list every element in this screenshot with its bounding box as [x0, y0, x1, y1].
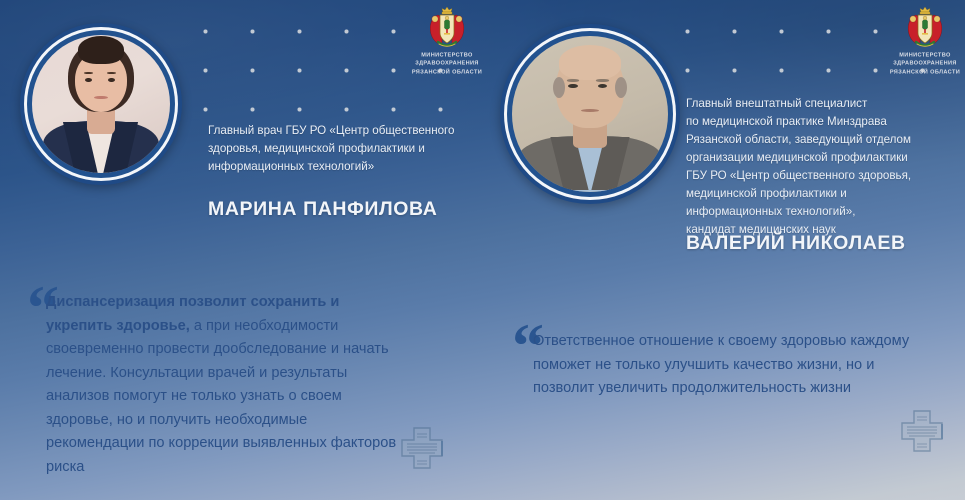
avatar-ring-blue — [27, 30, 175, 178]
person-name-panfilova: МАРИНА ПАНФИЛОВА — [208, 198, 437, 221]
ministry-emblem-right: Министерство здравоохранения Рязанской о… — [889, 6, 961, 68]
coat-of-arms-icon — [902, 6, 948, 50]
avatar-nikolaev — [500, 24, 680, 204]
medical-cross-icon — [396, 422, 448, 474]
person-title-panfilova: Главный врач ГБУ РО «Центр общественного… — [208, 122, 488, 176]
person-name-nikolaev: ВАЛЕРИЙ НИКОЛАЕВ — [686, 232, 906, 255]
quote-text-panfilova: Диспансеризация позволит сохранить и укр… — [46, 291, 406, 479]
avatar-photo-nikolaev — [512, 36, 668, 192]
avatar-panfilova — [20, 23, 182, 185]
avatar-photo-panfilova — [32, 35, 170, 173]
emblem-caption: Министерство здравоохранения Рязанской о… — [869, 52, 965, 77]
medical-cross-watermark-right — [896, 405, 948, 462]
person-title-nikolaev: Главный внештатный специалист по медицин… — [686, 95, 964, 239]
ministry-emblem-left: Министерство здравоохранения Рязанской о… — [411, 6, 483, 68]
medical-cross-watermark-left — [396, 422, 448, 479]
quote-text-nikolaev: Ответственное отношение к своему здоровь… — [533, 330, 928, 401]
quote-regular-segment: а при необходимости своевременно провест… — [46, 318, 396, 475]
coat-of-arms-icon — [424, 6, 470, 50]
avatar-ring-white — [24, 27, 178, 181]
quote-regular-segment: Ответственное отношение к своему здоровь… — [533, 333, 909, 396]
medical-cross-icon — [896, 405, 948, 457]
avatar-ring-blue — [507, 31, 673, 197]
slide-canvas: Министерство здравоохранения Рязанской о… — [0, 0, 965, 500]
emblem-caption: Министерство здравоохранения Рязанской о… — [391, 52, 503, 77]
avatar-ring-white — [504, 28, 676, 200]
